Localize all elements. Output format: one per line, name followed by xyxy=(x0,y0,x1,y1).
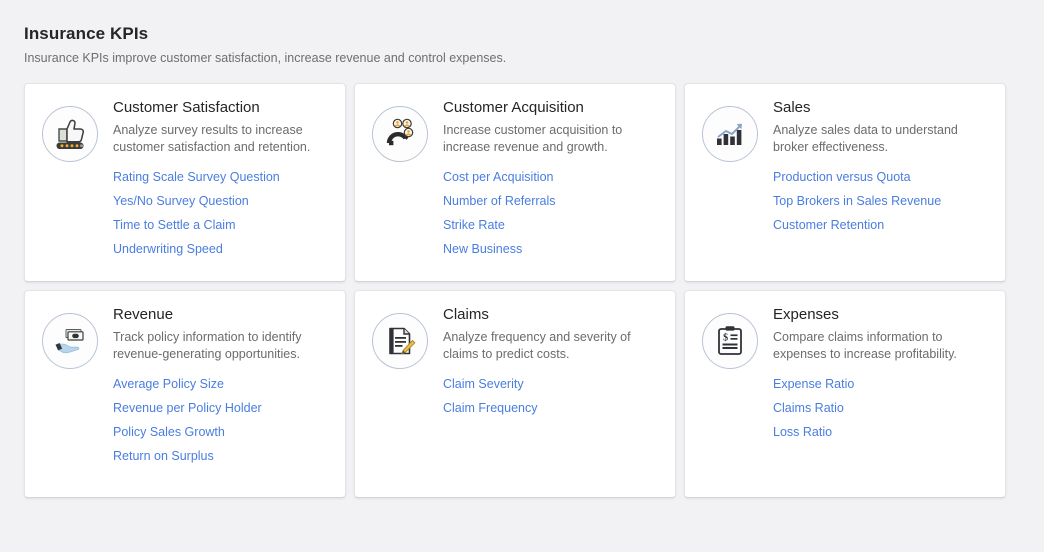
kpi-link-top-brokers-in-sales-revenue[interactable]: Top Brokers in Sales Revenue xyxy=(773,193,941,209)
list-item: Customer Retention xyxy=(773,216,991,234)
card-link-list: Cost per Acquisition Number of Referrals… xyxy=(443,168,661,258)
kpi-link-new-business[interactable]: New Business xyxy=(443,241,522,257)
kpi-card-expenses[interactable]: $ Expenses Compare claims information to… xyxy=(684,290,1006,498)
svg-text:$: $ xyxy=(723,332,728,343)
kpi-link-claims-ratio[interactable]: Claims Ratio xyxy=(773,400,844,416)
kpi-link-return-on-surplus[interactable]: Return on Surplus xyxy=(113,448,214,464)
thumbs-up-rating-icon xyxy=(42,106,98,162)
page-title: Insurance KPIs xyxy=(24,24,1004,44)
list-item: Cost per Acquisition xyxy=(443,168,661,186)
document-pencil-icon xyxy=(372,313,428,369)
kpi-link-rating-scale-survey-question[interactable]: Rating Scale Survey Question xyxy=(113,169,280,185)
magnet-attracting-customers-icon xyxy=(372,106,428,162)
card-title: Claims xyxy=(443,305,661,325)
list-item: New Business xyxy=(443,240,661,258)
kpi-link-underwriting-speed[interactable]: Underwriting Speed xyxy=(113,241,223,257)
kpi-link-claim-frequency[interactable]: Claim Frequency xyxy=(443,400,537,416)
card-link-list: Expense Ratio Claims Ratio Loss Ratio xyxy=(773,375,991,441)
card-description: Analyze sales data to understand broker … xyxy=(773,122,978,156)
kpi-link-customer-retention[interactable]: Customer Retention xyxy=(773,217,884,233)
kpi-link-cost-per-acquisition[interactable]: Cost per Acquisition xyxy=(443,169,553,185)
card-description: Analyze survey results to increase custo… xyxy=(113,122,318,156)
card-body: Expenses Compare claims information to e… xyxy=(766,305,991,447)
hand-holding-money-icon xyxy=(42,313,98,369)
card-link-list: Claim Severity Claim Frequency xyxy=(443,375,661,417)
kpi-link-strike-rate[interactable]: Strike Rate xyxy=(443,217,505,233)
card-body: Customer Acquisition Increase customer a… xyxy=(436,98,661,264)
card-title: Revenue xyxy=(113,305,331,325)
card-title: Sales xyxy=(773,98,991,118)
list-item: Time to Settle a Claim xyxy=(113,216,331,234)
kpi-link-claim-severity[interactable]: Claim Severity xyxy=(443,376,524,392)
list-item: Expense Ratio xyxy=(773,375,991,393)
kpi-link-expense-ratio[interactable]: Expense Ratio xyxy=(773,376,854,392)
kpi-link-policy-sales-growth[interactable]: Policy Sales Growth xyxy=(113,424,225,440)
card-description: Compare claims information to expenses t… xyxy=(773,329,978,363)
kpi-link-loss-ratio[interactable]: Loss Ratio xyxy=(773,424,832,440)
card-body: Customer Satisfaction Analyze survey res… xyxy=(106,98,331,264)
list-item: Number of Referrals xyxy=(443,192,661,210)
kpi-card-revenue[interactable]: Revenue Track policy information to iden… xyxy=(24,290,346,498)
insurance-kpis-page: Insurance KPIs Insurance KPIs improve cu… xyxy=(0,0,1044,552)
list-item: Claim Frequency xyxy=(443,399,661,417)
kpi-card-claims[interactable]: Claims Analyze frequency and severity of… xyxy=(354,290,676,498)
kpi-link-average-policy-size[interactable]: Average Policy Size xyxy=(113,376,224,392)
card-body: Revenue Track policy information to iden… xyxy=(106,305,331,471)
card-body: Sales Analyze sales data to understand b… xyxy=(766,98,991,240)
card-link-list: Average Policy Size Revenue per Policy H… xyxy=(113,375,331,465)
page-subtitle: Insurance KPIs improve customer satisfac… xyxy=(24,50,1004,66)
card-link-list: Rating Scale Survey Question Yes/No Surv… xyxy=(113,168,331,258)
list-item: Average Policy Size xyxy=(113,375,331,393)
card-title: Expenses xyxy=(773,305,991,325)
list-item: Top Brokers in Sales Revenue xyxy=(773,192,991,210)
kpi-link-yes-no-survey-question[interactable]: Yes/No Survey Question xyxy=(113,193,249,209)
list-item: Return on Surplus xyxy=(113,447,331,465)
list-item: Policy Sales Growth xyxy=(113,423,331,441)
list-item: Revenue per Policy Holder xyxy=(113,399,331,417)
list-item: Underwriting Speed xyxy=(113,240,331,258)
list-item: Claims Ratio xyxy=(773,399,991,417)
card-description: Analyze frequency and severity of claims… xyxy=(443,329,648,363)
list-item: Loss Ratio xyxy=(773,423,991,441)
card-description: Track policy information to identify rev… xyxy=(113,329,318,363)
list-item: Strike Rate xyxy=(443,216,661,234)
kpi-link-time-to-settle-a-claim[interactable]: Time to Settle a Claim xyxy=(113,217,236,233)
list-item: Yes/No Survey Question xyxy=(113,192,331,210)
kpi-card-customer-satisfaction[interactable]: Customer Satisfaction Analyze survey res… xyxy=(24,83,346,282)
kpi-link-revenue-per-policy-holder[interactable]: Revenue per Policy Holder xyxy=(113,400,262,416)
list-item: Claim Severity xyxy=(443,375,661,393)
card-body: Claims Analyze frequency and severity of… xyxy=(436,305,661,423)
card-title: Customer Acquisition xyxy=(443,98,661,118)
kpi-card-grid: Customer Satisfaction Analyze survey res… xyxy=(24,83,1004,498)
clipboard-dollar-icon: $ xyxy=(702,313,758,369)
kpi-link-number-of-referrals[interactable]: Number of Referrals xyxy=(443,193,556,209)
card-description: Increase customer acquisition to increas… xyxy=(443,122,648,156)
kpi-card-sales[interactable]: Sales Analyze sales data to understand b… xyxy=(684,83,1006,282)
card-title: Customer Satisfaction xyxy=(113,98,331,118)
list-item: Production versus Quota xyxy=(773,168,991,186)
list-item: Rating Scale Survey Question xyxy=(113,168,331,186)
card-link-list: Production versus Quota Top Brokers in S… xyxy=(773,168,991,234)
kpi-card-customer-acquisition[interactable]: Customer Acquisition Increase customer a… xyxy=(354,83,676,282)
bar-chart-uptrend-icon xyxy=(702,106,758,162)
kpi-link-production-versus-quota[interactable]: Production versus Quota xyxy=(773,169,911,185)
